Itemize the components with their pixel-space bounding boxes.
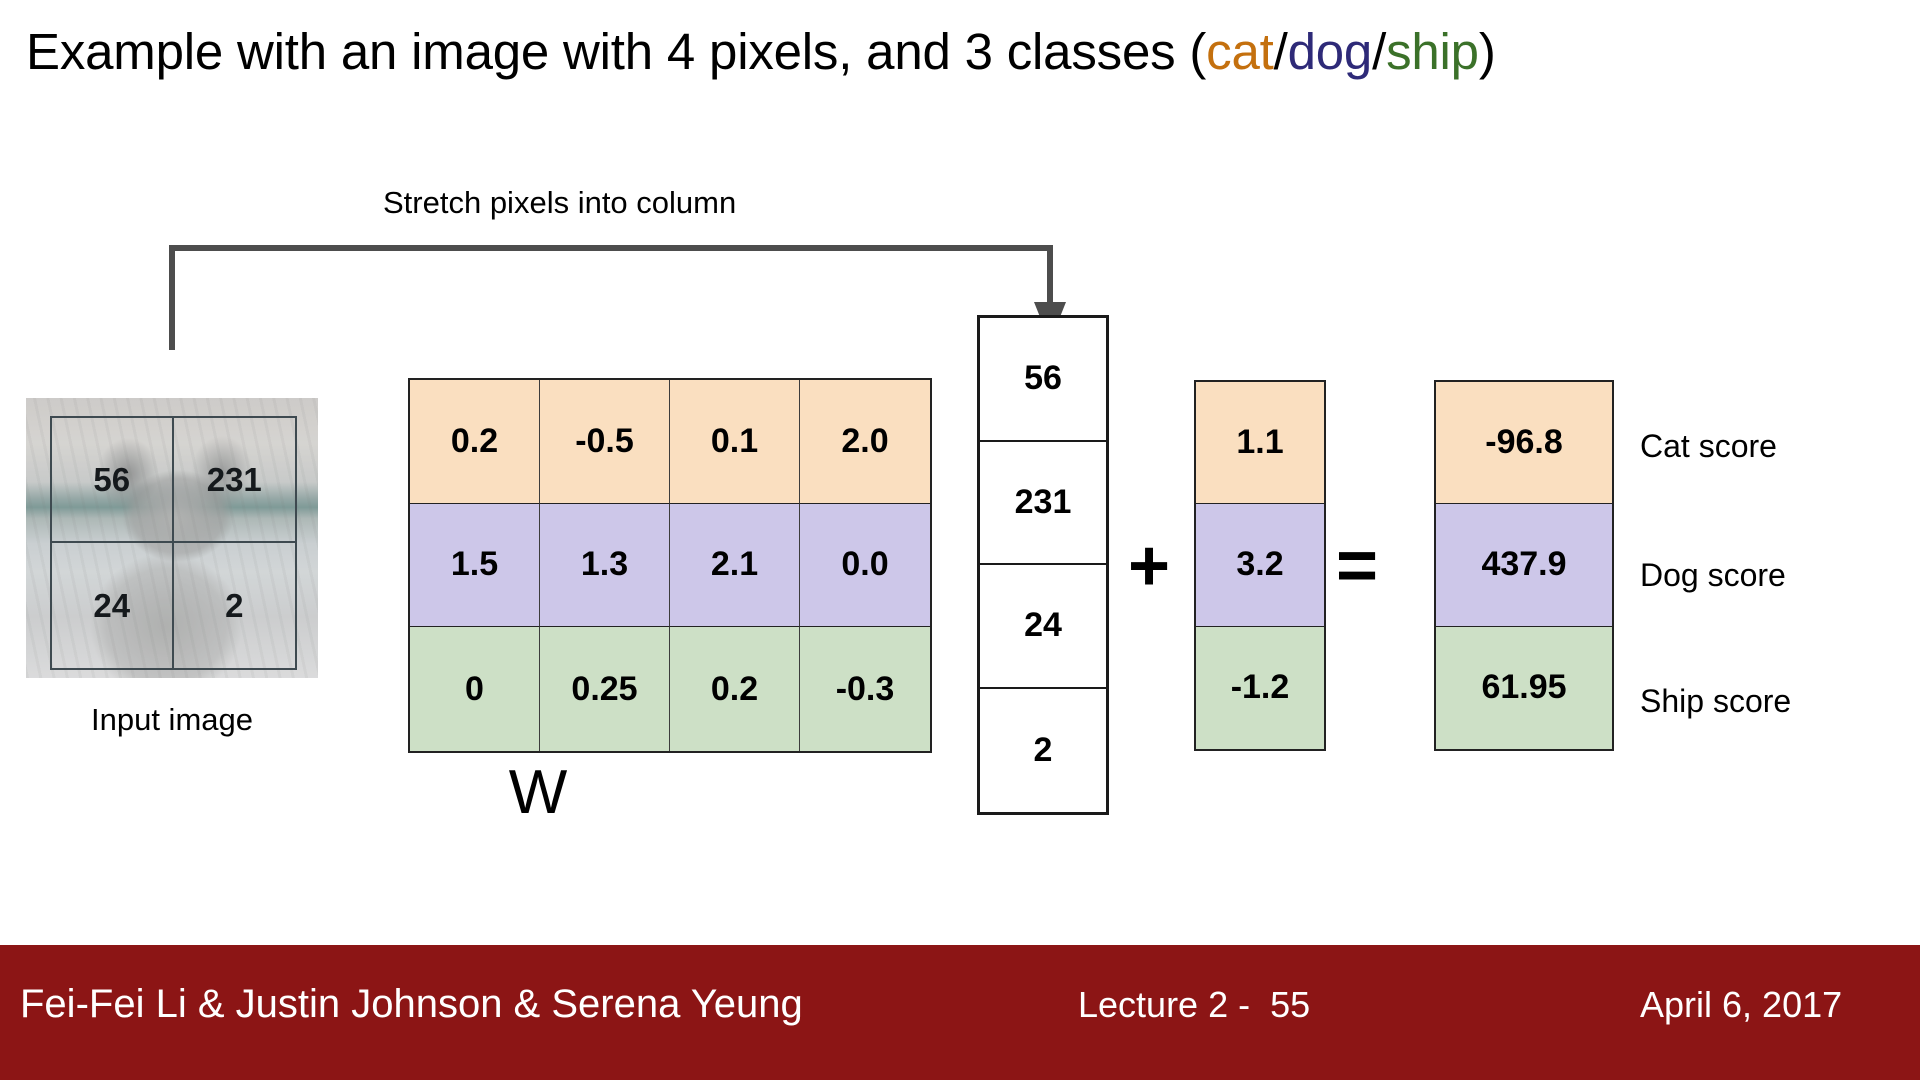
title-class-dog: dog bbox=[1288, 23, 1373, 80]
w-cell: 2.0 bbox=[800, 380, 930, 504]
pixel-cell: 2 bbox=[174, 543, 296, 668]
title-class-cat: cat bbox=[1206, 23, 1273, 80]
b-cell: -1.2 bbox=[1196, 627, 1324, 749]
title-suffix: ) bbox=[1479, 23, 1496, 80]
pixel-cell: 231 bbox=[174, 418, 296, 543]
bias-vector: 1.1 3.2 -1.2 bbox=[1194, 380, 1326, 751]
x-cell: 2 bbox=[980, 689, 1106, 813]
score-cell: 61.95 bbox=[1436, 627, 1612, 749]
footer-date: April 6, 2017 bbox=[1640, 984, 1842, 1026]
w-cell: 0.2 bbox=[410, 380, 540, 504]
w-cell: 0 bbox=[410, 627, 540, 751]
stretch-connector-arrow bbox=[150, 230, 1090, 350]
w-cell: 0.2 bbox=[670, 627, 800, 751]
pixel-grid-overlay: 56 231 24 2 bbox=[50, 416, 297, 670]
score-label-dog: Dog score bbox=[1640, 557, 1786, 594]
w-cell: 0.25 bbox=[540, 627, 670, 751]
weight-matrix: 0.2 -0.5 0.1 2.0 1.5 1.3 2.1 0.0 0 0.25 … bbox=[408, 378, 932, 753]
score-label-ship: Ship score bbox=[1640, 683, 1791, 720]
input-column-vector: 56 231 24 2 bbox=[977, 315, 1109, 815]
equals-operator: = bbox=[1336, 530, 1378, 602]
x-cell: 56 bbox=[980, 318, 1106, 442]
score-cell: 437.9 bbox=[1436, 504, 1612, 626]
w-cell: 1.3 bbox=[540, 504, 670, 628]
w-cell: -0.5 bbox=[540, 380, 670, 504]
footer-lecture: Lecture 2 - 55 bbox=[1078, 984, 1310, 1026]
score-label-cat: Cat score bbox=[1640, 428, 1777, 465]
x-cell: 24 bbox=[980, 565, 1106, 689]
footer-lecture-text: Lecture 2 - bbox=[1078, 984, 1250, 1025]
input-image-label: Input image bbox=[26, 702, 318, 738]
title-prefix: Example with an image with 4 pixels, and… bbox=[26, 23, 1206, 80]
title-separator-2: / bbox=[1372, 23, 1386, 80]
w-cell: -0.3 bbox=[800, 627, 930, 751]
b-cell: 3.2 bbox=[1196, 504, 1324, 626]
pixel-cell: 56 bbox=[52, 418, 174, 543]
score-cell: -96.8 bbox=[1436, 382, 1612, 504]
w-cell: 2.1 bbox=[670, 504, 800, 628]
input-image: 56 231 24 2 bbox=[26, 398, 318, 678]
stretch-pixels-caption: Stretch pixels into column bbox=[383, 185, 736, 221]
x-cell: 231 bbox=[980, 442, 1106, 566]
scores-vector: -96.8 437.9 61.95 bbox=[1434, 380, 1614, 751]
w-cell: 0.0 bbox=[800, 504, 930, 628]
footer-authors: Fei-Fei Li & Justin Johnson & Serena Yeu… bbox=[20, 982, 803, 1027]
w-cell: 1.5 bbox=[410, 504, 540, 628]
w-cell: 0.1 bbox=[670, 380, 800, 504]
page-title: Example with an image with 4 pixels, and… bbox=[26, 22, 1496, 81]
b-cell: 1.1 bbox=[1196, 382, 1324, 504]
plus-operator: + bbox=[1128, 530, 1170, 602]
weight-matrix-label: W bbox=[408, 762, 668, 824]
logo-top-text: Stanford bbox=[1488, 880, 1818, 939]
footer-slide-number: 55 bbox=[1270, 984, 1310, 1025]
title-class-ship: ship bbox=[1386, 23, 1479, 80]
pixel-cell: 24 bbox=[52, 543, 174, 668]
title-separator-1: / bbox=[1274, 23, 1288, 80]
